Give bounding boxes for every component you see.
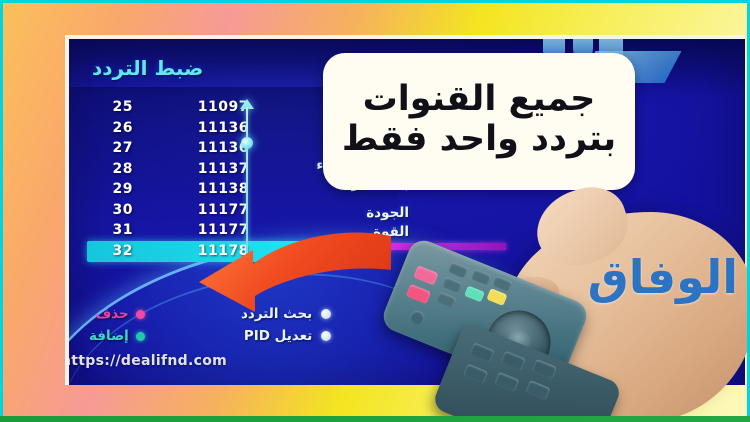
frequency-row-value: 11138 [139,181,249,197]
brand-logo: الوفاق [588,250,738,304]
watermark-url: https://dealifnd.com [65,353,227,369]
headline-box: جميع القنوات بتردد واحد فقط [323,53,635,190]
bottom-left-menu-item[interactable]: إضافة [89,325,145,347]
menu-bullet-icon [136,310,145,319]
frequency-row-index: 32 [87,243,139,259]
thumbnail-frame: نايل سات ضبط التردد 25110972611136271113… [0,0,750,422]
frequency-row-index: 28 [87,161,139,177]
remote-color-button-green [464,285,485,302]
menu-title: ضبط التردد [92,56,203,80]
frequency-row-index: 31 [87,222,139,238]
remote-button [463,363,488,383]
bottom-left-menu-item[interactable]: حذف [89,303,145,325]
parameter-list-spacer [279,195,409,204]
remote-button [469,342,494,362]
bottom-right-menu-label: تعديل PID [244,328,312,344]
tv-remote-control [390,268,600,422]
frequency-row-value: 11097 [139,99,249,115]
remote-button [501,351,526,371]
remote-button [494,372,519,392]
frequency-row-value: 11136 [139,120,249,136]
remote-color-button-yellow [486,288,507,306]
bottom-right-menu-item[interactable]: تعديل PID [241,325,331,347]
menu-bullet-icon [136,332,145,341]
menu-bullet-icon [321,331,331,341]
frequency-row-value: 11177 [139,202,249,218]
frequency-row-index: 26 [87,120,139,136]
remote-button [532,359,557,379]
frequency-row-value: 11137 [139,161,249,177]
remote-button [442,276,463,293]
remote-round-button [408,309,426,327]
remote-color-button-pink [413,265,438,285]
red-arrow-icon [195,228,395,318]
frequency-row-index: 27 [87,140,139,156]
frequency-row-index: 29 [87,181,139,197]
bottom-left-menu[interactable]: حذفإضافة [89,303,145,347]
remote-color-button-red [406,284,431,304]
remote-button [471,269,492,286]
parameter-label: الجودة [279,204,409,224]
frequency-row-index: 25 [87,99,139,115]
frequency-row-index: 30 [87,202,139,218]
bottom-left-menu-label: إضافة [89,328,129,344]
remote-button [436,291,457,308]
remote-button [448,262,469,279]
frequency-row-value: 11136 [139,140,249,156]
headline-line-2: بتردد واحد فقط [342,121,616,159]
remote-button [525,380,550,400]
scroll-thumb-dot[interactable] [241,137,253,149]
bottom-left-menu-label: حذف [96,306,129,322]
brand-logo-text: الوفاق [588,250,738,304]
headline-line-1: جميع القنوات [363,81,596,119]
